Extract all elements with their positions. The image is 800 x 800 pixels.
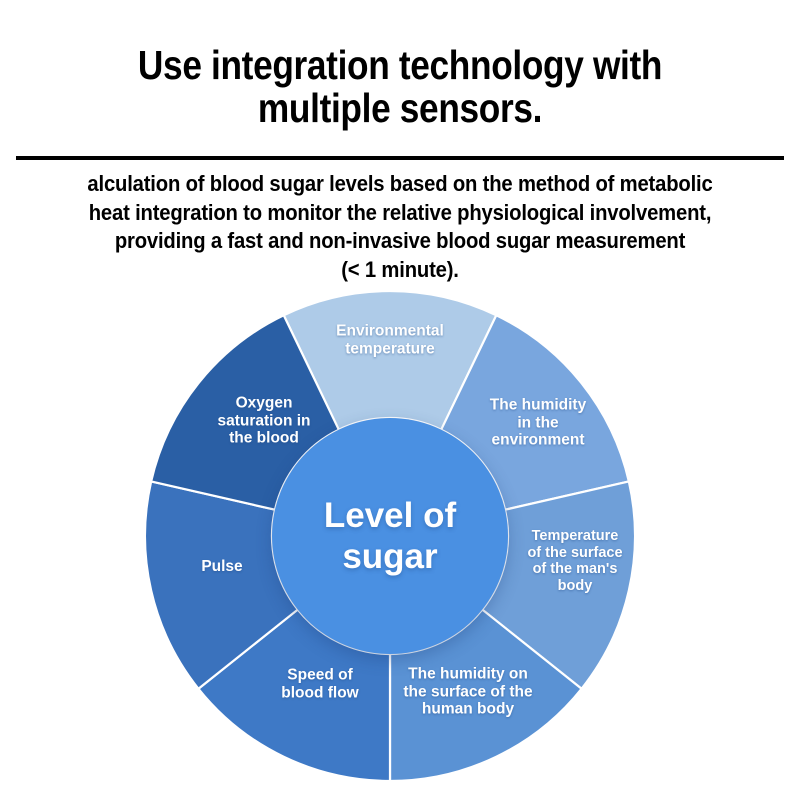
wheel-segment-label[interactable]: Temperature of the surface of the man's … — [527, 528, 622, 594]
wheel-segment-label[interactable]: Speed of blood flow — [281, 666, 358, 701]
wheel-segment-label[interactable]: The humidity in the environment — [490, 397, 586, 450]
wheel-segment-label[interactable]: Oxygen saturation in the blood — [217, 395, 310, 448]
center-hub-label: Level of sugar — [324, 495, 456, 578]
wheel-segment-label[interactable]: The humidity on the surface of the human… — [403, 666, 532, 719]
wheel-segment-label[interactable]: Environmental temperature — [336, 322, 444, 357]
sensor-wheel-diagram: Environmental temperatureThe humidity in… — [0, 0, 800, 800]
wheel-segment-label[interactable]: Pulse — [201, 558, 242, 576]
wheel-svg — [0, 0, 800, 800]
wheel-center-hub[interactable]: Level of sugar — [272, 418, 508, 654]
